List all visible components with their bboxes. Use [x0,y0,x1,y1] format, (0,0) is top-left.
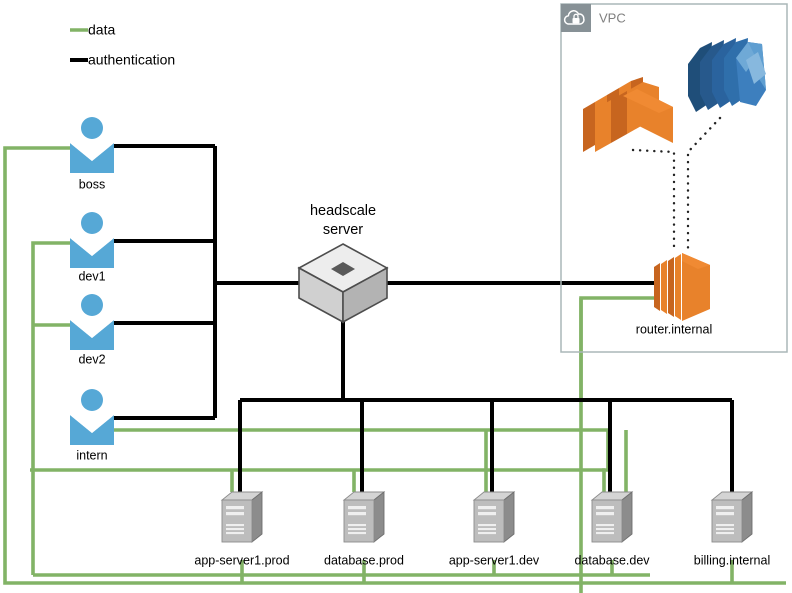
server-icon [222,492,262,542]
aws-router-icon[interactable] [654,253,710,321]
user-boss[interactable]: boss [70,117,114,191]
data-link-dev1[interactable] [33,243,70,575]
user-icon [70,294,114,350]
server-label-app-server1-prod: app-server1.prod [194,553,289,567]
server-label-app-server1-dev: app-server1.dev [449,553,540,567]
server-icon [592,492,632,542]
data-link-group [5,148,786,593]
server-icon [474,492,514,542]
user-icon [70,389,114,445]
server-icon [344,492,384,542]
aws-rds-database-icon[interactable] [688,38,766,112]
server-database-prod[interactable]: database.prod [324,492,404,567]
server-icon [712,492,752,542]
legend-item-authentication: authentication [70,52,175,68]
user-label-dev1: dev1 [78,269,105,283]
user-label-boss: boss [79,177,105,191]
headscale-label-line1: headscale [310,203,376,219]
user-dev2[interactable]: dev2 [70,294,114,366]
aws-ec2-instances-icon[interactable] [583,77,673,152]
user-dev1[interactable]: dev1 [70,212,114,283]
vpc-internal-links [633,118,720,252]
auth-link-group [114,146,732,492]
legend-label-authentication: authentication [88,52,175,68]
network-diagram: VPC router.internal boss [0,0,792,593]
server-database-dev[interactable]: database.dev [574,492,650,567]
legend: data authentication [70,22,175,68]
router-label: router.internal [636,322,712,336]
server-app-server1-dev[interactable]: app-server1.dev [449,492,540,567]
legend-item-data: data [70,22,115,38]
server-label-billing-internal: billing.internal [694,553,770,567]
data-link-router[interactable] [581,298,660,593]
user-icon [70,117,114,173]
vpc-label: VPC [599,10,626,25]
cube-3d-icon [299,244,387,322]
headscale-server[interactable]: headscale server [299,203,387,322]
vpc-dotted-rds-router [688,118,720,252]
server-label-database-dev: database.dev [574,553,650,567]
user-label-dev2: dev2 [78,352,105,366]
server-app-server1-prod[interactable]: app-server1.prod [194,492,289,567]
user-intern[interactable]: intern [70,389,114,462]
vpc-dotted-ec2-router [633,150,674,252]
user-icon [70,212,114,268]
data-riser-database-dev[interactable] [604,430,608,492]
diagram-canvas: VPC router.internal boss [0,0,792,593]
user-label-intern: intern [76,448,107,462]
server-billing-internal[interactable]: billing.internal [694,492,770,567]
legend-label-data: data [88,22,115,38]
headscale-label-line2: server [323,222,363,238]
server-label-database-prod: database.prod [324,553,404,567]
data-link-boss[interactable] [5,148,786,583]
